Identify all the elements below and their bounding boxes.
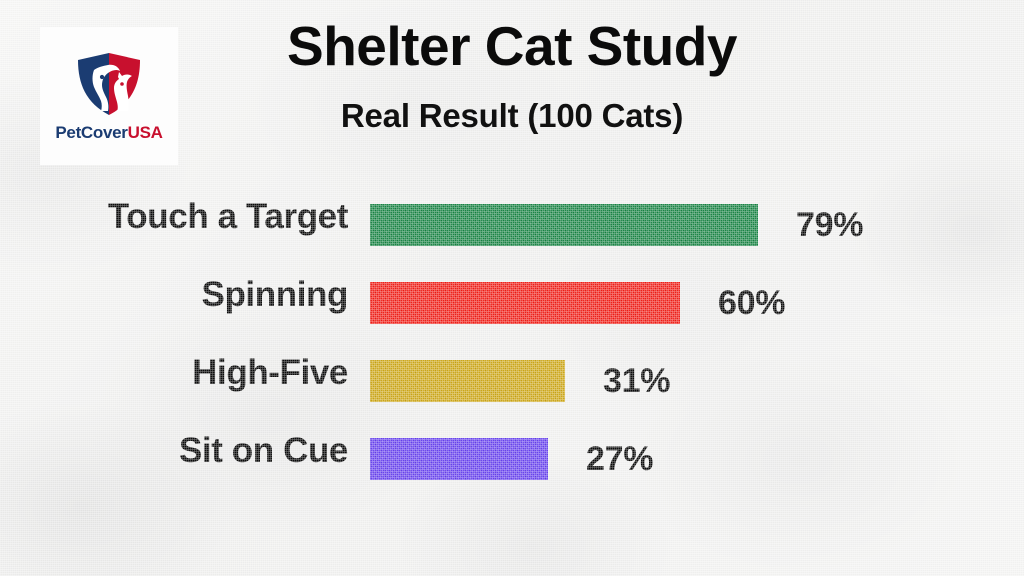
bar-value-label: 31% xyxy=(603,360,670,402)
chart-row: Touch a Target 79% xyxy=(0,188,1024,266)
shield-dog-cat-logo-icon xyxy=(72,51,146,117)
brand-wordmark-accent: USA xyxy=(128,123,163,142)
bar-category-label: Touch a Target xyxy=(108,188,348,246)
bar-track: 31% xyxy=(370,360,1024,402)
brand-wordmark-primary: PetCover xyxy=(55,123,127,142)
bar-touch-a-target xyxy=(370,204,758,246)
bar-sit-on-cue xyxy=(370,438,548,480)
bar-category-label: High-Five xyxy=(192,344,348,402)
horizontal-bar-chart: Touch a Target 79% Spinning 60% High-Fiv… xyxy=(0,188,1024,500)
bar-track: 60% xyxy=(370,282,1024,324)
chart-row: Spinning 60% xyxy=(0,266,1024,344)
chart-row: High-Five 31% xyxy=(0,344,1024,422)
bar-category-label: Sit on Cue xyxy=(179,422,348,480)
bar-track: 79% xyxy=(370,204,1024,246)
petcover-logo-card: PetCoverUSA xyxy=(40,27,178,165)
bar-value-label: 60% xyxy=(718,282,785,324)
bar-value-label: 79% xyxy=(796,204,863,246)
bar-track: 27% xyxy=(370,438,1024,480)
infographic-canvas: PetCoverUSA Shelter Cat Study Real Resul… xyxy=(0,0,1024,576)
brand-wordmark: PetCoverUSA xyxy=(55,124,162,141)
chart-row: Sit on Cue 27% xyxy=(0,422,1024,500)
bar-category-label: Spinning xyxy=(202,266,349,324)
bar-value-label: 27% xyxy=(586,438,653,480)
bar-spinning xyxy=(370,282,680,324)
bar-high-five xyxy=(370,360,565,402)
